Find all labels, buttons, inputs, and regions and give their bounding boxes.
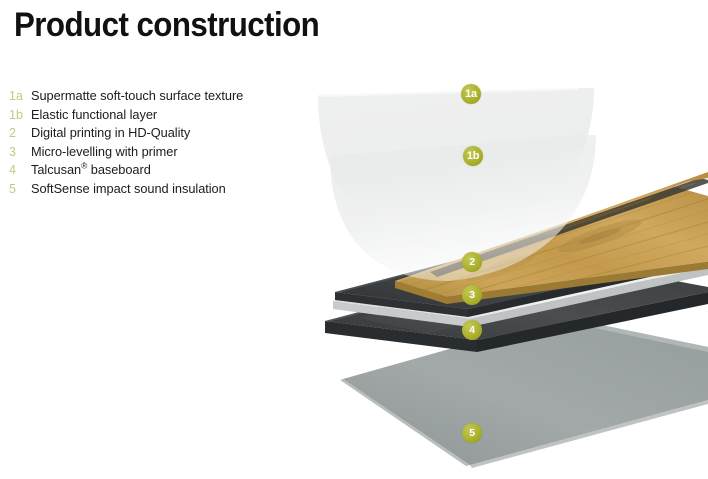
legend-item-3: 3 Micro-levelling with primer bbox=[7, 144, 277, 163]
layer-micro-levelling-with-primer bbox=[333, 240, 708, 327]
diagram-badge-1a[interactable]: 1a bbox=[461, 84, 481, 104]
legend-number: 2 bbox=[7, 126, 31, 140]
legend-label: Digital printing in HD-Quality bbox=[31, 125, 190, 140]
legend-label: Supermatte soft-touch surface texture bbox=[31, 88, 243, 103]
diagram-badge-2[interactable]: 2 bbox=[462, 252, 482, 272]
legend-number: 1a bbox=[7, 89, 31, 103]
diagram-badge-5[interactable]: 5 bbox=[462, 423, 482, 443]
legend-label: Elastic functional layer bbox=[31, 107, 157, 122]
layer-softsense-impact-sound-insulation bbox=[340, 317, 708, 468]
legend-list: 1a Supermatte soft-touch surface texture… bbox=[7, 88, 277, 199]
legend-number: 3 bbox=[7, 145, 31, 159]
layer-digital-printing-hd-quality bbox=[395, 172, 708, 309]
product-construction-diagram bbox=[0, 0, 708, 479]
legend-label: Talcusan® baseboard bbox=[31, 162, 151, 177]
page-title: Product construction bbox=[14, 4, 319, 46]
legend-item-5: 5 SoftSense impact sound insulation bbox=[7, 181, 277, 200]
layer-supermatte-soft-touch-surface-texture bbox=[318, 88, 594, 249]
legend-label: Micro-levelling with primer bbox=[31, 144, 178, 159]
legend-number: 4 bbox=[7, 163, 31, 177]
legend-item-1b: 1b Elastic functional layer bbox=[7, 107, 277, 126]
legend-item-1a: 1a Supermatte soft-touch surface texture bbox=[7, 88, 277, 107]
diagram-badge-3[interactable]: 3 bbox=[462, 285, 482, 305]
legend-item-4: 4 Talcusan® baseboard bbox=[7, 162, 277, 181]
legend-label-text: Talcusan bbox=[31, 162, 81, 177]
registered-mark: ® bbox=[81, 161, 87, 171]
legend-item-2: 2 Digital printing in HD-Quality bbox=[7, 125, 277, 144]
diagram-badge-4[interactable]: 4 bbox=[462, 320, 482, 340]
diagram-badge-1b[interactable]: 1b bbox=[463, 146, 483, 166]
legend-label: SoftSense impact sound insulation bbox=[31, 181, 226, 196]
layer-talcusan-baseboard bbox=[325, 259, 708, 352]
layer-dark-substrate bbox=[335, 231, 708, 317]
legend-label-suffix: baseboard bbox=[91, 162, 151, 177]
legend-number: 1b bbox=[7, 108, 31, 122]
legend-number: 5 bbox=[7, 182, 31, 196]
